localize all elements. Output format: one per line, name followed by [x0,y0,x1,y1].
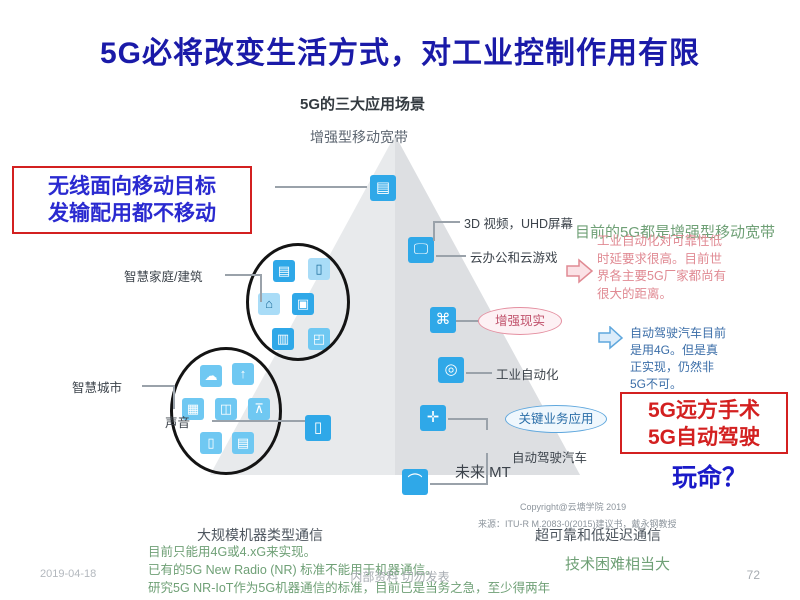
leader-cloud [436,255,466,257]
leader-voice [212,420,305,422]
label-ar-oval: 增强现实 [478,307,562,335]
smart-city-highlight-ring [170,347,282,475]
leader-smarthome-h [225,274,261,276]
vr-headset-icon: ⌘ [430,307,456,333]
footer-notice: 内部资料 切勿发表 [0,568,800,585]
pink-note-line-1: 工业自动化对可靠性低 [597,233,777,251]
label-smart-city: 智慧城市 [72,377,122,396]
wanming-annotation: 玩命？ [672,458,747,494]
monitor-icon: 🖵 [408,237,434,263]
label-smart-home: 智慧家庭/建筑 [124,266,202,285]
annotation-box-right: 5G远方手术 5G自动驾驶 [620,392,788,454]
robot-arm-icon: ✛ [420,405,446,431]
label-voice: 声音 [165,412,190,431]
annotation-box-left: 无线面向移动目标 发输配用都不移动 [12,166,252,234]
green-paragraph-line-1: 目前只能用4G或4.xG来实现。 [148,543,550,561]
blue-note-line-4: 5G不可。 [630,376,790,393]
leader-ar [456,320,480,322]
credit-copyright: Copyright@云塘学院 2019 [520,500,626,513]
leader-mission-h [448,418,486,420]
leader-uhd-h [434,221,460,223]
label-industrial: 工业自动化 [496,364,559,383]
label-mission-critical-oval: 关键业务应用 [505,405,607,433]
smart-home-highlight-ring [246,243,350,361]
pink-note-line-2: 时延要求很高。目前世 [597,251,777,269]
five-g-scenarios-diagram: 5G的三大应用场景 增强型移动宽带 未来IMT ▤ 🖵 ⌘ ◎ ✛ ⌒ ▯ ▤ … [120,85,680,540]
annotation-box-left-line-1: 无线面向移动目标 [20,173,244,200]
label-uhd: 3D 视频，UHD屏幕 [464,213,573,232]
diagram-title: 5G的三大应用场景 [300,93,425,114]
page-title: 5G必将改变生活方式，对工业控制作用有限 [0,28,800,72]
gear-globe-icon: ◎ [438,357,464,383]
leader-smarthome-v [260,274,262,302]
credit-source: 来源：ITU-R M.2083-0(2015)建议书，戴永钢教授 [478,517,677,530]
annotation-box-left-line-2: 发输配用都不移动 [20,200,244,227]
label-cloud: 云办公和云游戏 [470,247,558,266]
leader-selfdrive-h [430,483,488,485]
leader-gigabit [275,186,367,188]
leader-industrial [466,372,492,374]
pink-note: 工业自动化对可靠性低 时延要求很高。目前世 界各主要5G厂家都尚有 很大的距离。 [597,233,777,303]
leader-smartcity-h [142,385,174,387]
corner-label-mmtc: 大规模机器类型通信 [140,525,380,545]
slide-canvas: 5G必将改变生活方式，对工业控制作用有限 5G的三大应用场景 增强型移动宽带 未… [0,0,800,600]
apex-label: 增强型移动宽带 [310,127,408,147]
blue-note: 自动驾驶汽车目前 是用4G。但是真 正实现，仍然非 5G不可。 [630,325,790,393]
blue-arrow-icon [598,326,624,350]
phone-icon: ▯ [305,415,331,441]
leader-mission-v [486,418,488,430]
center-label: 未来IMT [455,461,511,482]
car-icon: ⌒ [402,469,428,495]
server-icon: ▤ [370,175,396,201]
blue-note-line-2: 是用4G。但是真 [630,342,790,359]
annotation-box-right-line-1: 5G远方手术 [628,397,780,424]
pink-note-line-4: 很大的距离。 [597,286,777,304]
leader-selfdrive-v [486,453,488,483]
pink-arrow-icon [566,258,594,284]
footer-page-number: 72 [747,568,760,582]
annotation-box-right-line-2: 5G自动驾驶 [628,424,780,451]
blue-note-line-1: 自动驾驶汽车目前 [630,325,790,342]
pink-note-line-3: 界各主要5G厂家都尚有 [597,268,777,286]
leader-smartcity-v [173,385,175,409]
label-self-driving: 自动驾驶汽车 [512,447,587,466]
leader-uhd-v [433,221,435,241]
blue-note-line-3: 正实现，仍然非 [630,359,790,376]
